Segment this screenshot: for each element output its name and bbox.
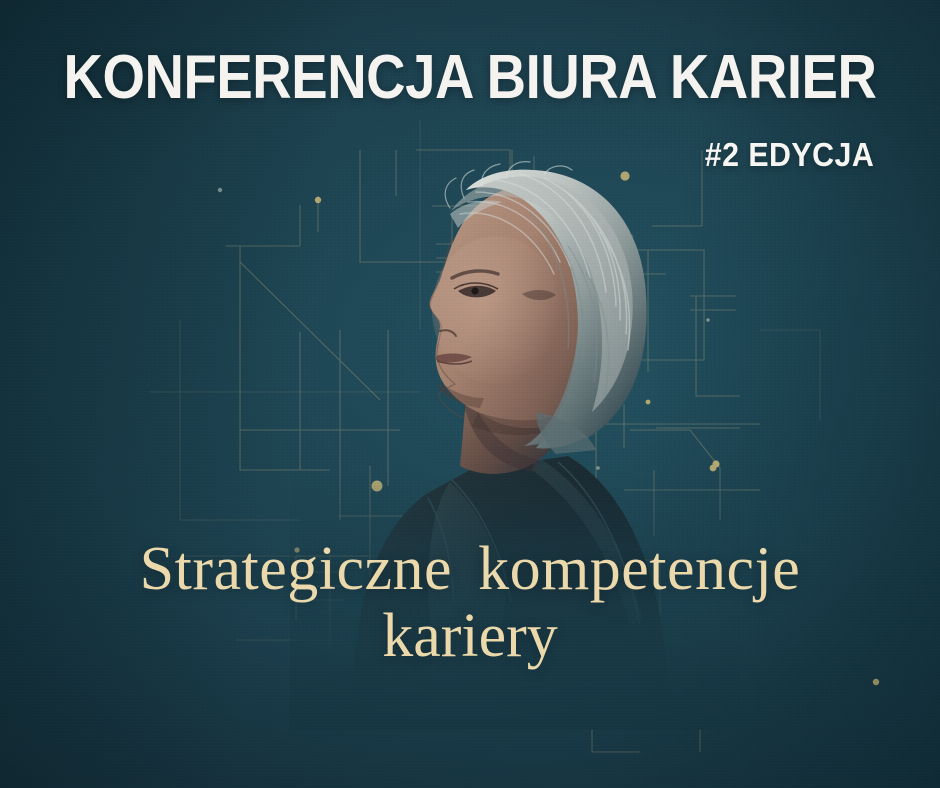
headline-line1-part1: Strategiczne <box>140 535 452 603</box>
headline-line2: kariery <box>40 603 900 670</box>
conference-poster: KONFERENCJA BIURA KARIER #2 EDYCJA Strat… <box>0 0 940 788</box>
page-title: KONFERENCJA BIURA KARIER <box>56 46 883 109</box>
edition-badge: #2 EDYCJA <box>704 136 874 174</box>
headline-line1-part2: kompetencje <box>478 535 800 603</box>
headline: Strategicznekompetencje kariery <box>40 536 900 670</box>
